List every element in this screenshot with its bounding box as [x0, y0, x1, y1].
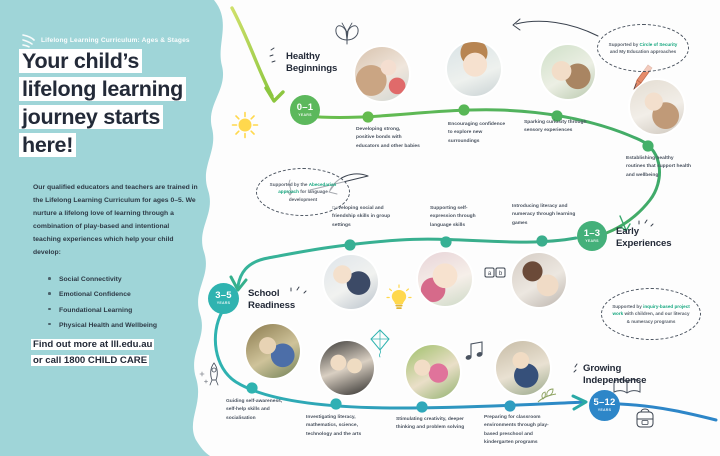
list-item: Social Connectivity [46, 272, 211, 287]
sun-doodle [228, 108, 262, 142]
hero-body-text: Our qualified educators and teachers are… [33, 181, 198, 259]
stage-badge-5-12[interactable]: 5–12 YEARS [589, 390, 620, 421]
stage-title-early-experiences: Early Experiences [616, 226, 671, 251]
milestone-caption: Guiding self-awareness, self-help skills… [226, 398, 288, 423]
callout-inquiry-based: Supported by inquiry-based project work … [601, 288, 701, 340]
milestone-caption: Supporting self-expression through langu… [430, 205, 492, 230]
swoosh-logo-mark [22, 33, 35, 48]
photo-children-at-table [320, 341, 374, 395]
kite-doodle [368, 328, 392, 358]
headline-line-1: Your child’s [22, 49, 139, 73]
callout-abecedarian: Supported by the Abecedarian approach fo… [256, 168, 350, 216]
brand-eyebrow: Lifelong Learning Curriculum: Ages & Sta… [41, 37, 190, 44]
photo-children-creative-play [406, 345, 460, 399]
butterfly-doodle [332, 18, 362, 50]
stage-badge-unit: YEARS [585, 240, 598, 244]
cta-phone-line[interactable]: or call 1800 CHILD CARE [33, 355, 147, 366]
leaf-sprout-doodle [534, 383, 560, 405]
callout-highlight: Circle of Security [640, 42, 678, 47]
hero-bullet-list: Social Connectivity Emotional Confidence… [46, 272, 211, 333]
callout-post: and My Education approaches [610, 49, 676, 54]
list-item: Physical Health and Wellbeing [46, 318, 211, 333]
infographic-canvas: Lifelong Learning Curriculum: Ages & Sta… [0, 0, 720, 456]
milestone-caption: Developing social and friendship skills … [332, 205, 394, 230]
list-item: Emotional Confidence [46, 287, 211, 302]
headline-line-2: lifelong learning [22, 77, 183, 101]
music-note-doodle [462, 340, 486, 362]
stage-badge-3-5[interactable]: 3–5 YEARS [208, 283, 239, 314]
stage-badge-unit: YEARS [598, 409, 611, 413]
stage-title-line-1: Early [616, 226, 671, 238]
photo-children-playing-group [324, 255, 378, 309]
stage-title-school-readiness: School Readiness [248, 288, 295, 313]
callout-text: Supported by Circle of Security and My E… [607, 41, 679, 56]
callout-post: with children, and our literacy & numera… [624, 311, 689, 323]
milestone-caption: Sparking curiosity through sensory exper… [524, 119, 588, 136]
stage-title-growing-independence: Growing Independence [583, 363, 646, 388]
milestone-caption: Encouraging confidence to explore new su… [448, 121, 508, 146]
milestone-caption: Establishing healthy routines that suppo… [626, 155, 692, 180]
headline-line-4: here! [22, 133, 73, 157]
stage-badge-range: 5–12 [594, 398, 616, 408]
stage-title-line-1: School [248, 288, 295, 300]
stage-badge-range: 3–5 [215, 291, 231, 301]
milestone-caption: Preparing for classroom environments thr… [484, 414, 562, 448]
stage-badge-0-1[interactable]: 0–1 YEARS [290, 95, 320, 125]
stage-badge-unit: YEARS [298, 114, 311, 118]
stage-badge-unit: YEARS [217, 302, 230, 306]
sparkle-panel-doodle [198, 368, 212, 388]
photo-toddler-talking [418, 252, 472, 306]
stage-badge-range: 0–1 [297, 103, 313, 113]
hero-content: Lifelong Learning Curriculum: Ages & Sta… [0, 0, 214, 456]
confetti-dots-healthy [268, 46, 284, 66]
stage-title-line-1: Healthy [286, 51, 337, 63]
svg-text:a: a [488, 271, 492, 277]
stage-title-line-2: Experiences [616, 238, 671, 250]
milestone-caption: Investigating literacy, mathematics, sci… [306, 414, 380, 439]
stage-badge-1-3[interactable]: 1–3 YEARS [577, 221, 607, 251]
list-item: Foundational Learning [46, 303, 211, 318]
lightbulb-doodle [386, 284, 412, 314]
stage-badge-range: 1–3 [584, 229, 600, 239]
brand-row: Lifelong Learning Curriculum: Ages & Sta… [22, 33, 190, 48]
callout-text: Supported by inquiry-based project work … [611, 303, 691, 325]
photo-educator-reading-to-child [512, 253, 566, 307]
stage-title-line-2: Beginnings [286, 63, 337, 75]
milestone-caption: Introducing literacy and numeracy throug… [512, 203, 578, 228]
photo-baby-with-educator [355, 47, 409, 101]
abc-blocks-doodle: a b [484, 263, 510, 281]
callout-pre: Supported by [609, 42, 639, 47]
stage-title-line-2: Independence [583, 375, 646, 387]
headline-line-3: journey starts [22, 105, 160, 129]
stage-title-healthy-beginnings: Healthy Beginnings [286, 51, 337, 76]
milestone-caption: Stimulating creativity, deeper thinking … [396, 416, 466, 433]
svg-text:b: b [499, 271, 503, 277]
callout-pre: Supported by the [270, 182, 308, 187]
photo-toddler-smiling [447, 42, 501, 96]
milestone-caption: Developing strong, positive bonds with e… [356, 126, 420, 151]
backpack-doodle [632, 404, 658, 430]
callout-pre: Supported by [612, 304, 642, 309]
page-title: Your child’s lifelong learning journey s… [22, 48, 212, 160]
cta-contact[interactable]: Find out more at lll.edu.au or call 1800… [33, 337, 213, 369]
stage-title-line-2: Readiness [248, 300, 295, 312]
callout-circle-of-security: Supported by Circle of Security and My E… [597, 24, 689, 72]
photo-children-outdoors [246, 324, 300, 378]
stage-title-line-1: Growing [583, 363, 646, 375]
cta-website-line[interactable]: Find out more at lll.edu.au [33, 339, 152, 350]
photo-child-with-puppy [541, 45, 595, 99]
callout-text: Supported by the Abecedarian approach fo… [266, 181, 340, 203]
